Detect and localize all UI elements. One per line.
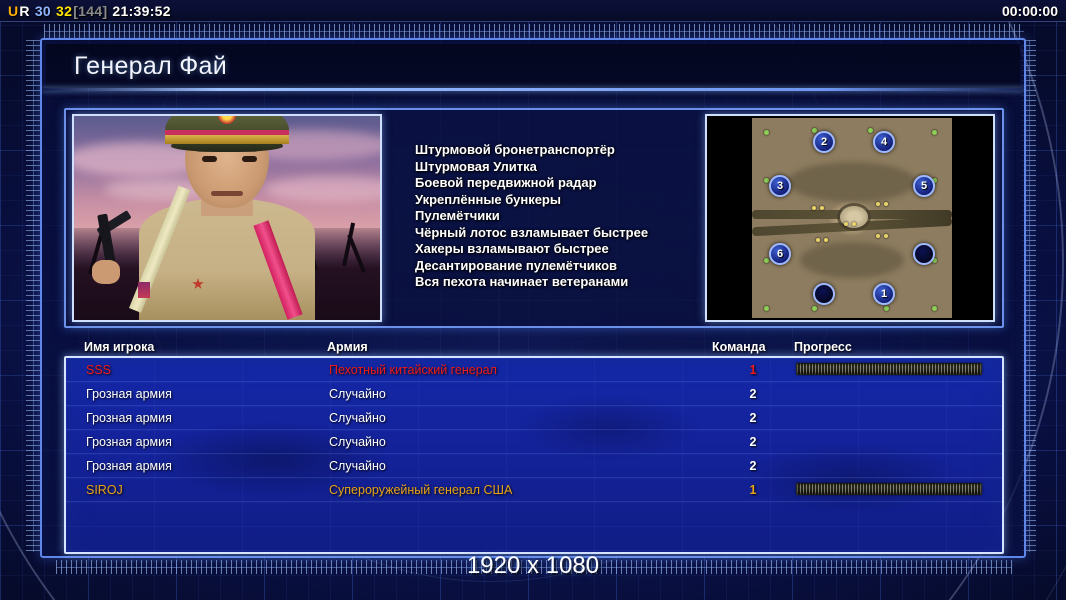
- status-prefix-u: U: [8, 3, 18, 19]
- ruler-strip-top: [44, 24, 1024, 38]
- cell-army: Случайно: [329, 459, 386, 473]
- general-abilities-list: Штурмовой бронетранспортёр Штурмовая Ули…: [415, 142, 705, 291]
- cell-team: 1: [742, 483, 764, 497]
- portrait-mouth: [211, 191, 243, 196]
- general-portrait: [72, 114, 382, 322]
- cell-player-name: SSS: [86, 363, 111, 377]
- progress-bar: [796, 483, 982, 495]
- cell-team: 2: [742, 411, 764, 425]
- table-row[interactable]: Грозная армияСлучайно2: [66, 430, 1002, 454]
- portrait-eye: [242, 156, 257, 162]
- map-start-position[interactable]: 4: [873, 131, 895, 153]
- cell-progress: [796, 363, 982, 375]
- cell-player-name: Грозная армия: [86, 387, 172, 401]
- header-team: Команда: [712, 340, 766, 354]
- window-title-bar: Генерал Фай: [46, 44, 1020, 88]
- cell-player-name: Грозная армия: [86, 411, 172, 425]
- progress-bar: [796, 363, 982, 375]
- status-clock: 21:39:52: [112, 3, 170, 19]
- cell-team: 1: [742, 363, 764, 377]
- status-bar: U R 30 32 [144] 21:39:52 00:00:00: [0, 0, 1066, 22]
- table-row[interactable]: SIROJСупероружейный генерал США1: [66, 478, 1002, 502]
- ability-item: Штурмовая Улитка: [415, 159, 705, 176]
- cell-player-name: Грозная армия: [86, 459, 172, 473]
- map-terrain-image: 2 4 3 5 6 1: [752, 118, 952, 318]
- map-start-position[interactable]: [813, 283, 835, 305]
- ability-item: Укреплённые бункеры: [415, 192, 705, 209]
- map-start-position[interactable]: 6: [769, 243, 791, 265]
- page-title: Генерал Фай: [74, 52, 227, 81]
- cell-army: Случайно: [329, 411, 386, 425]
- ability-item: Вся пехота начинает ветеранами: [415, 274, 705, 291]
- table-row[interactable]: Грозная армияСлучайно2: [66, 454, 1002, 478]
- map-start-position[interactable]: 1: [873, 283, 895, 305]
- header-army: Армия: [327, 340, 368, 354]
- table-row[interactable]: SSSПехотный китайский генерал1: [66, 358, 1002, 382]
- status-fps-alt: 32: [56, 3, 72, 19]
- map-start-position[interactable]: 3: [769, 175, 791, 197]
- ability-item: Хакеры взламывают быстрее: [415, 241, 705, 258]
- player-rows: SSSПехотный китайский генерал1Грозная ар…: [66, 358, 1002, 502]
- cell-team: 2: [742, 435, 764, 449]
- cell-team: 2: [742, 387, 764, 401]
- ability-item: Боевой передвижной радар: [415, 175, 705, 192]
- cell-army: Случайно: [329, 387, 386, 401]
- portrait-eye: [202, 156, 217, 162]
- cell-team: 2: [742, 459, 764, 473]
- status-fps: 30: [35, 3, 51, 19]
- player-table-headers: Имя игрока Армия Команда Прогресс: [64, 340, 1004, 358]
- ability-item: Чёрный лотос взламывает быстрее: [415, 225, 705, 242]
- status-bracket-value: [144]: [73, 3, 107, 19]
- title-divider: [42, 88, 1024, 91]
- header-player-name: Имя игрока: [84, 340, 154, 354]
- ability-item: Штурмовой бронетранспортёр: [415, 142, 705, 159]
- ruler-strip-left: [26, 40, 40, 552]
- status-bar-left: U R 30 32 [144] 21:39:52: [8, 3, 171, 19]
- status-prefix-r: R: [19, 3, 29, 19]
- header-progress: Прогресс: [794, 340, 852, 354]
- cell-player-name: Грозная армия: [86, 435, 172, 449]
- map-start-position[interactable]: [913, 243, 935, 265]
- status-timer: 00:00:00: [1002, 3, 1058, 19]
- ability-item: Пулемётчики: [415, 208, 705, 225]
- resolution-label: 1920 x 1080: [0, 552, 1066, 580]
- cell-army: Пехотный китайский генерал: [329, 363, 497, 377]
- map-start-position[interactable]: 5: [913, 175, 935, 197]
- cell-army: Супероружейный генерал США: [329, 483, 512, 497]
- ability-item: Десантирование пулемётчиков: [415, 258, 705, 275]
- portrait-hand: [92, 260, 120, 284]
- portrait-medal: [138, 282, 150, 298]
- player-list-panel: SSSПехотный китайский генерал1Грозная ар…: [64, 356, 1004, 554]
- portrait-cap-gold-band: [165, 135, 289, 144]
- cell-player-name: SIROJ: [86, 483, 123, 497]
- table-row[interactable]: Грозная армияСлучайно2: [66, 406, 1002, 430]
- map-start-position[interactable]: 2: [813, 131, 835, 153]
- table-row[interactable]: Грозная армияСлучайно2: [66, 382, 1002, 406]
- map-preview[interactable]: 2 4 3 5 6 1: [705, 114, 995, 322]
- cell-army: Случайно: [329, 435, 386, 449]
- game-screen: U R 30 32 [144] 21:39:52 00:00:00 Генера…: [0, 0, 1066, 600]
- cell-progress: [796, 483, 982, 495]
